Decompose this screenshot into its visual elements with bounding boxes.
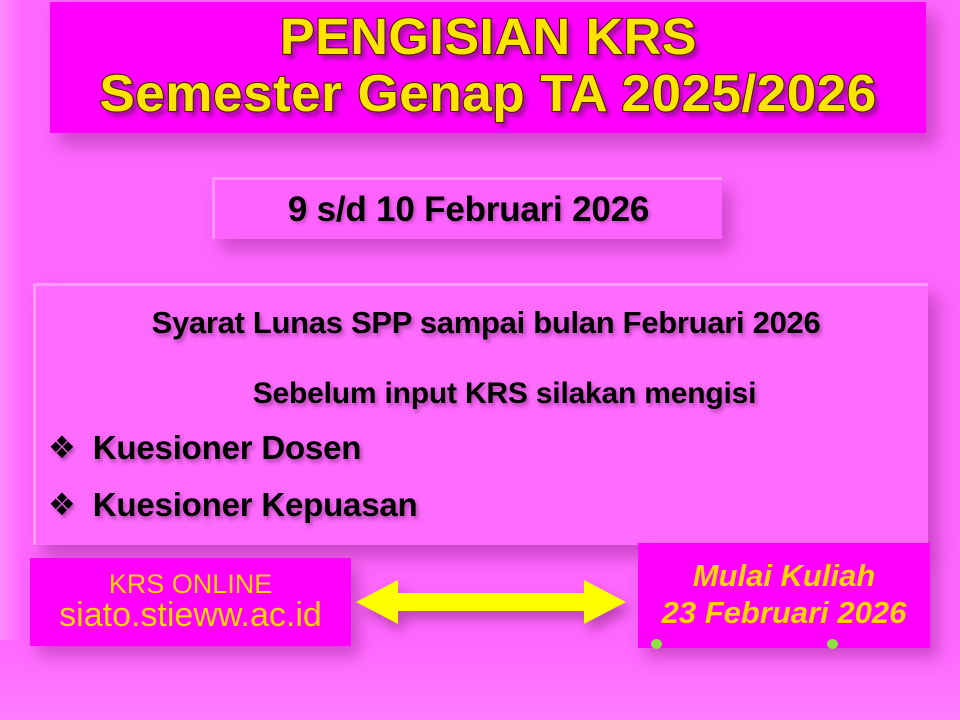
bullet-label-kuesioner-kepuasan: Kuesioner Kepuasan	[93, 486, 418, 524]
list-item: ❖ Kuesioner Dosen	[48, 429, 361, 467]
requirement-text: Syarat Lunas SPP sampai bulan Februari 2…	[48, 305, 924, 341]
background-left-gradient	[0, 0, 22, 720]
slide-canvas: PENGISIAN KRS Semester Genap TA 2025/202…	[0, 0, 960, 720]
main-content-panel: Syarat Lunas SPP sampai bulan Februari 2…	[33, 283, 928, 545]
diamond-bullet-icon: ❖	[48, 433, 76, 464]
title-line-secondary: Semester Genap TA 2025/2026	[99, 68, 876, 120]
arrow-container	[356, 578, 626, 626]
bullet-label-kuesioner-dosen: Kuesioner Dosen	[93, 429, 361, 467]
mulai-kuliah-heading: Mulai Kuliah	[693, 558, 876, 595]
green-dot-decoration	[827, 639, 838, 649]
krs-online-url[interactable]: siato.stieww.ac.id	[59, 598, 322, 634]
mulai-kuliah-box: Mulai Kuliah 23 Februari 2026	[638, 543, 930, 648]
double-headed-arrow-icon	[356, 578, 626, 626]
background-bottom-gradient	[0, 640, 960, 720]
krs-online-heading: KRS ONLINE	[109, 570, 273, 598]
date-range-text: 9 s/d 10 Februari 2026	[288, 190, 649, 230]
date-banner: 9 s/d 10 Februari 2026	[212, 177, 722, 239]
title-line-primary: PENGISIAN KRS	[279, 11, 696, 62]
title-banner: PENGISIAN KRS Semester Genap TA 2025/202…	[50, 2, 926, 133]
mulai-kuliah-date: 23 Februari 2026	[662, 595, 907, 632]
green-dot-decoration	[651, 639, 662, 649]
diamond-bullet-icon: ❖	[48, 490, 76, 521]
list-item: ❖ Kuesioner Kepuasan	[48, 486, 417, 524]
krs-online-box[interactable]: KRS ONLINE siato.stieww.ac.id	[30, 558, 351, 646]
instruction-text: Sebelum input KRS silakan mengisi	[82, 377, 927, 411]
